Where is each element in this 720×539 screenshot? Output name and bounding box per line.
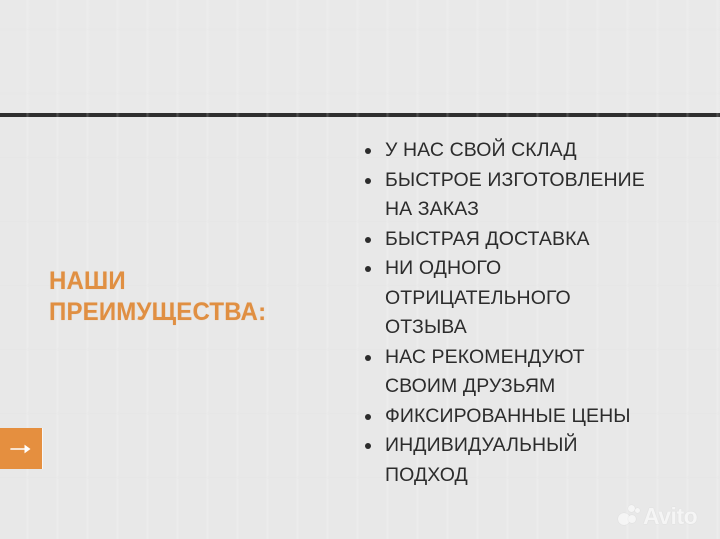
list-item: НИ ОДНОГО ОТРИЦАТЕЛЬНОГО ОТЗЫВА xyxy=(362,254,712,343)
next-slide-button[interactable] xyxy=(0,428,42,469)
slide-canvas: НАШИ ПРЕИМУЩЕСТВА: У НАС СВОЙ СКЛАД БЫСТ… xyxy=(0,0,720,539)
list-item-label: БЫСТРОЕ ИЗГОТОВЛЕНИЕ НА ЗАКАЗ xyxy=(385,166,712,225)
list-item: ИНДИВИДУАЛЬНЫЙ ПОДХОД xyxy=(362,431,712,490)
bullet-dot-icon xyxy=(365,237,371,243)
list-item: НАС РЕКОМЕНДУЮТ СВОИМ ДРУЗЬЯМ xyxy=(362,343,712,402)
list-item-label: ИНДИВИДУАЛЬНЫЙ ПОДХОД xyxy=(385,431,712,490)
bullet-dot-icon xyxy=(365,443,371,449)
list-item-label: У НАС СВОЙ СКЛАД xyxy=(385,136,712,166)
bullet-dot-icon xyxy=(365,178,371,184)
bullet-dot-icon xyxy=(365,414,371,420)
bullet-dot-icon xyxy=(365,355,371,361)
list-item: У НАС СВОЙ СКЛАД xyxy=(362,136,712,166)
list-item-label: НИ ОДНОГО ОТРИЦАТЕЛЬНОГО ОТЗЫВА xyxy=(385,254,712,343)
page-title-line-1: НАШИ xyxy=(49,266,337,297)
top-band xyxy=(0,0,720,113)
page-title-line-2: ПРЕИМУЩЕСТВА: xyxy=(49,297,337,328)
list-item-label: ФИКСИРОВАННЫЕ ЦЕНЫ xyxy=(385,402,712,432)
list-item: БЫСТРАЯ ДОСТАВКА xyxy=(362,225,712,255)
advantages-list: У НАС СВОЙ СКЛАД БЫСТРОЕ ИЗГОТОВЛЕНИЕ НА… xyxy=(362,136,712,490)
list-item-label: НАС РЕКОМЕНДУЮТ СВОИМ ДРУЗЬЯМ xyxy=(385,343,712,402)
list-item-label: БЫСТРАЯ ДОСТАВКА xyxy=(385,225,712,255)
bullet-dot-icon xyxy=(365,148,371,154)
list-item: БЫСТРОЕ ИЗГОТОВЛЕНИЕ НА ЗАКАЗ xyxy=(362,166,712,225)
page-title: НАШИ ПРЕИМУЩЕСТВА: xyxy=(49,266,337,328)
bullet-dot-icon xyxy=(365,266,371,272)
arrow-right-icon xyxy=(10,443,32,455)
list-item: ФИКСИРОВАННЫЕ ЦЕНЫ xyxy=(362,402,712,432)
